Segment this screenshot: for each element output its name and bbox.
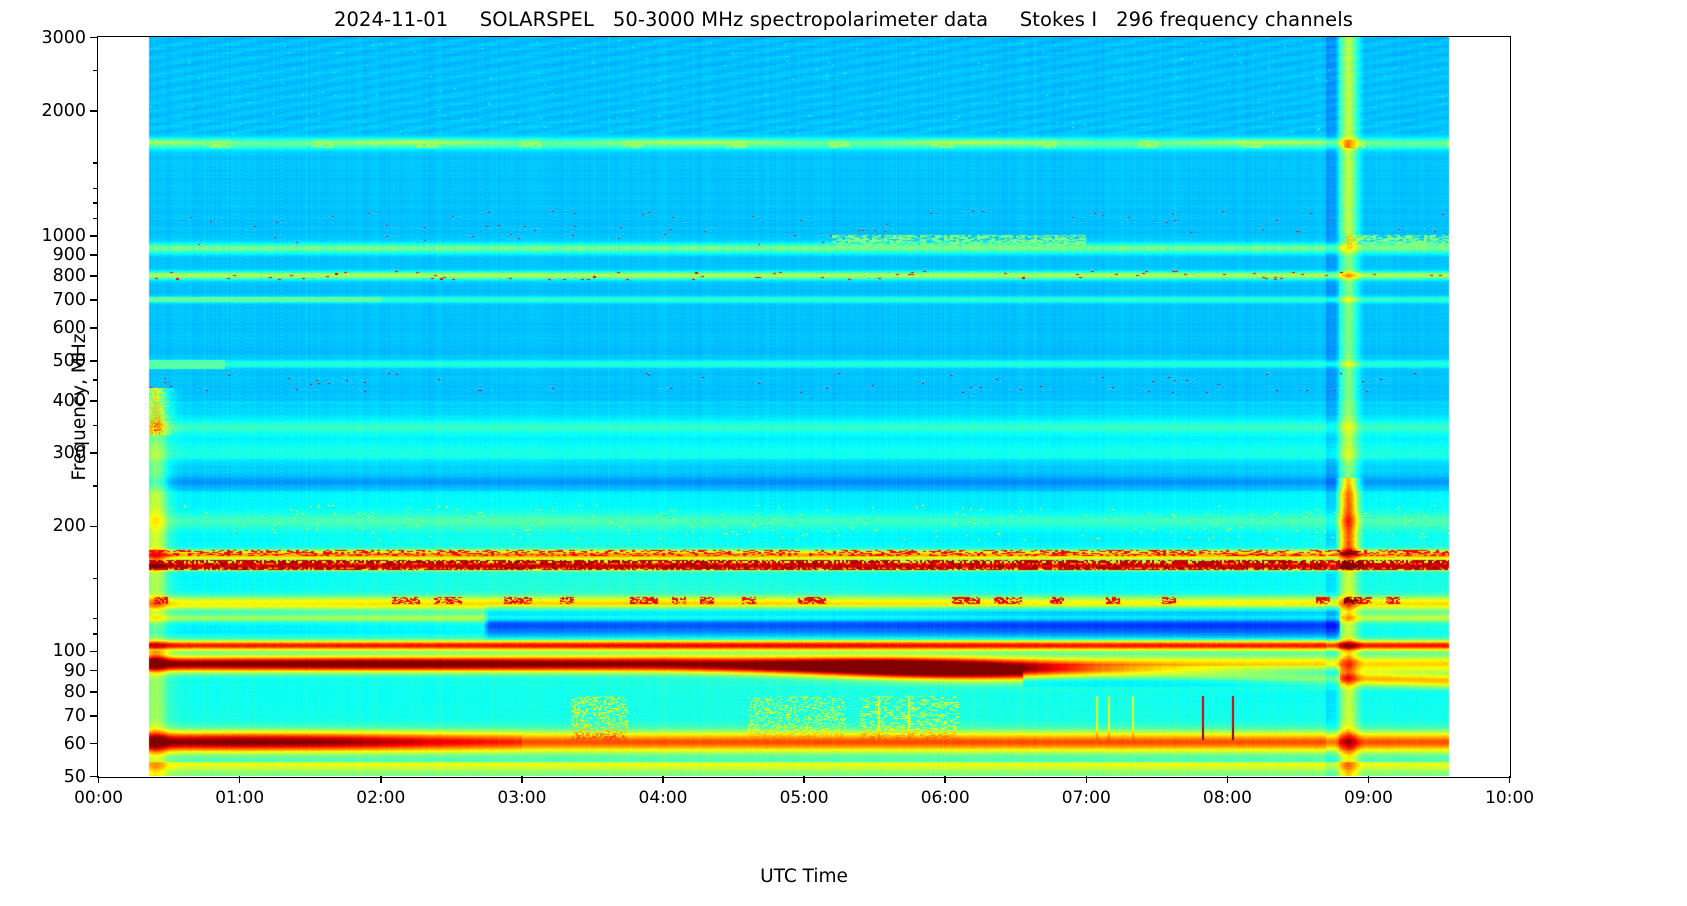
y-minor-tick-mark: [93, 633, 98, 635]
x-tick-mark: [521, 776, 523, 783]
y-minor-tick-mark: [93, 188, 98, 190]
y-minor-tick-mark: [93, 618, 98, 620]
y-minor-tick-mark: [93, 162, 98, 164]
spectrogram-image: [98, 37, 1509, 776]
x-tick-label: 09:00: [1344, 788, 1393, 808]
y-tick-mark: [90, 651, 97, 653]
x-tick-mark: [662, 776, 664, 783]
x-tick-mark: [1227, 776, 1229, 783]
x-tick-label: 06:00: [921, 788, 970, 808]
y-tick-label: 90: [0, 661, 86, 681]
y-tick-mark: [90, 452, 97, 454]
y-tick-mark: [90, 235, 97, 237]
plot-area: [97, 36, 1511, 778]
y-tick-mark: [90, 776, 97, 778]
y-tick-mark: [90, 275, 97, 277]
y-minor-tick-mark: [93, 425, 98, 427]
x-tick-label: 03:00: [497, 788, 546, 808]
x-tick-label: 10:00: [1485, 788, 1534, 808]
y-tick-mark: [90, 526, 97, 528]
y-tick-label: 400: [0, 391, 86, 411]
x-tick-label: 04:00: [639, 788, 688, 808]
x-tick-mark: [803, 776, 805, 783]
y-minor-tick-mark: [93, 379, 98, 381]
y-minor-tick-mark: [93, 218, 98, 220]
y-tick-label: 2000: [0, 101, 86, 121]
x-tick-label: 00:00: [74, 788, 123, 808]
y-tick-mark: [90, 110, 97, 112]
x-tick-mark: [944, 776, 946, 783]
y-tick-label: 500: [0, 351, 86, 371]
y-tick-mark: [90, 299, 97, 301]
y-tick-label: 3000: [0, 28, 86, 48]
y-tick-label: 80: [0, 682, 86, 702]
y-tick-label: 700: [0, 290, 86, 310]
y-tick-label: 50: [0, 767, 86, 787]
x-tick-label: 02:00: [356, 788, 405, 808]
figure-title: 2024-11-01 SOLARSPEL 50-3000 MHz spectro…: [0, 8, 1687, 31]
y-tick-label: 70: [0, 706, 86, 726]
y-tick-mark: [90, 360, 97, 362]
x-tick-mark: [239, 776, 241, 783]
y-tick-mark: [90, 715, 97, 717]
y-tick-mark: [90, 691, 97, 693]
x-tick-label: 05:00: [780, 788, 829, 808]
y-tick-label: 200: [0, 516, 86, 536]
spectrogram-figure: 2024-11-01 SOLARSPEL 50-3000 MHz spectro…: [0, 0, 1687, 906]
y-tick-mark: [90, 400, 97, 402]
y-tick-mark: [90, 37, 97, 39]
y-tick-label: 60: [0, 734, 86, 754]
y-minor-tick-mark: [93, 485, 98, 487]
x-axis-label: UTC Time: [97, 866, 1511, 887]
x-tick-mark: [1368, 776, 1370, 783]
y-tick-label: 800: [0, 266, 86, 286]
x-tick-label: 07:00: [1062, 788, 1111, 808]
y-tick-label: 900: [0, 245, 86, 265]
y-tick-mark: [90, 254, 97, 256]
y-minor-tick-mark: [93, 578, 98, 580]
y-tick-label: 600: [0, 318, 86, 338]
x-tick-mark: [98, 776, 100, 783]
y-tick-label: 100: [0, 641, 86, 661]
y-tick-mark: [90, 743, 97, 745]
y-minor-tick-mark: [93, 70, 98, 72]
y-tick-mark: [90, 670, 97, 672]
y-minor-tick-mark: [93, 202, 98, 204]
x-tick-mark: [1509, 776, 1511, 783]
x-tick-label: 01:00: [215, 788, 264, 808]
y-tick-mark: [90, 327, 97, 329]
y-tick-label: 1000: [0, 226, 86, 246]
x-tick-mark: [1086, 776, 1088, 783]
x-tick-label: 08:00: [1203, 788, 1252, 808]
x-tick-mark: [380, 776, 382, 783]
y-tick-label: 300: [0, 443, 86, 463]
